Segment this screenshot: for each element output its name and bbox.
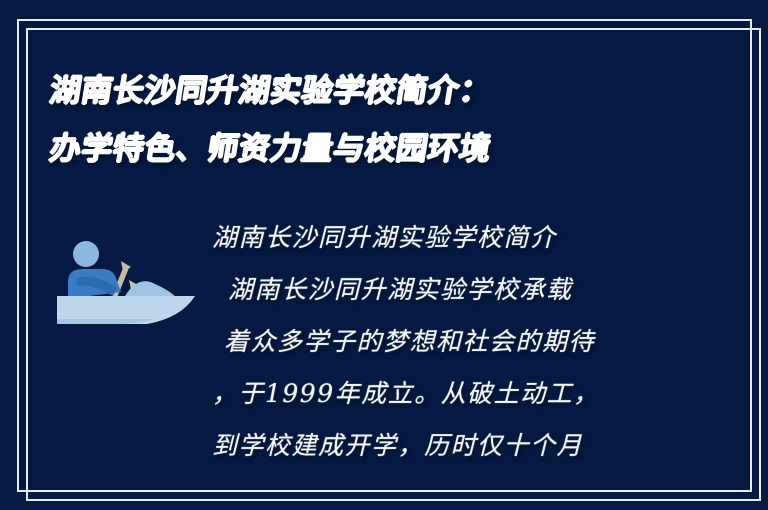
rowing-boat-illustration	[55, 236, 213, 330]
body-line-3: 着众多学子的梦想和社会的期待	[212, 316, 660, 368]
title-line-1: 湖南长沙同升湖实验学校简介：	[45, 62, 734, 120]
body-line-4: ，于1999年成立。从破土动工，	[212, 368, 660, 420]
title-line-2: 办学特色、师资力量与校园环境	[45, 120, 734, 178]
body-line-2: 湖南长沙同升湖实验学校承载	[212, 264, 660, 316]
poster-canvas: 湖南长沙同升湖实验学校简介： 办学特色、师资力量与校园环境 湖南长沙同升湖实验学…	[0, 0, 768, 510]
body-line-5: 到学校建成开学，历时仅十个月	[212, 420, 660, 472]
body-text: 湖南长沙同升湖实验学校简介 湖南长沙同升湖实验学校承载 着众多学子的梦想和社会的…	[212, 212, 660, 472]
rower-head	[73, 241, 99, 267]
body-line-1: 湖南长沙同升湖实验学校简介	[212, 212, 660, 264]
page-title: 湖南长沙同升湖实验学校简介： 办学特色、师资力量与校园环境	[50, 62, 730, 178]
